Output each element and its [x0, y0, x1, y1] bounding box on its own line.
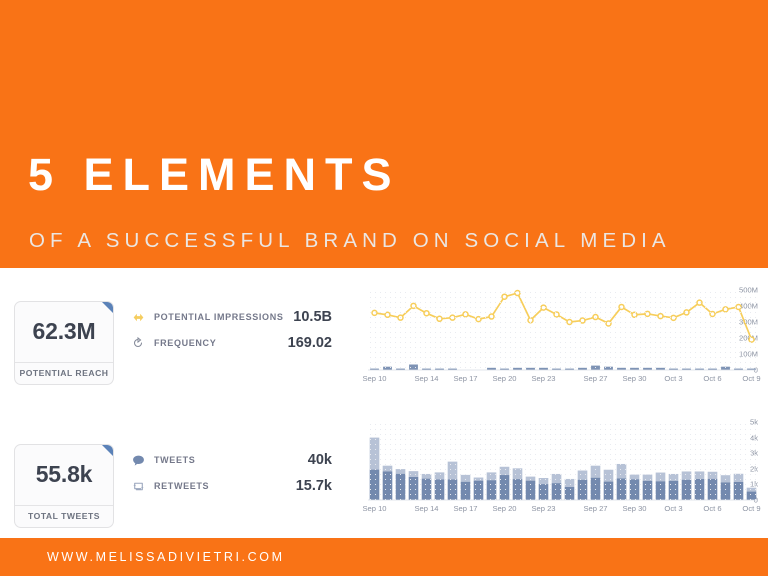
x-tick-label: Sep 27: [583, 374, 607, 383]
potential-reach-label: POTENTIAL REACH: [15, 362, 113, 378]
metric-row-potential-impressions: POTENTIAL IMPRESSIONS 10.5B: [132, 304, 332, 330]
chart-grid: [368, 290, 758, 370]
x-tick-label: Oct 9: [742, 374, 760, 383]
x-tick-label: Sep 23: [531, 504, 555, 513]
retweet-icon: [132, 476, 154, 496]
metric-row-retweets: RETWEETS 15.7k: [132, 473, 332, 499]
x-tick-label: Sep 14: [414, 504, 438, 513]
potential-reach-value: 62.3M: [15, 318, 113, 345]
x-tick-label: Sep 27: [583, 504, 607, 513]
metric-label: TWEETS: [154, 455, 332, 466]
page-title: 5 ELEMENTS: [28, 152, 401, 197]
impressions-line-chart: 0100M200M300M400M500M Sep 10Sep 14Sep 17…: [338, 288, 758, 394]
card-corner-fold-icon: [102, 302, 113, 313]
metric-row-tweets: TWEETS 40k: [132, 447, 332, 473]
x-tick-label: Sep 17: [453, 504, 477, 513]
total-tweets-card: 55.8k TOTAL TWEETS: [14, 444, 114, 528]
x-tick-label: Sep 14: [414, 374, 438, 383]
x-tick-label: Oct 3: [664, 504, 682, 513]
bar-chart-plot: [368, 422, 758, 500]
potential-reach-card: 62.3M POTENTIAL REACH: [14, 301, 114, 385]
hero-banner: 5 ELEMENTS OF A SUCCESSFUL BRAND ON SOCI…: [0, 0, 768, 268]
dashboard-body: 62.3M POTENTIAL REACH POTENTIAL IMPRESSI…: [0, 268, 768, 538]
website-url: WWW.MELISSADIVIETRI.COM: [47, 550, 285, 564]
x-tick-label: Sep 23: [531, 374, 555, 383]
card-corner-fold-icon: [102, 445, 113, 456]
x-tick-label: Sep 30: [622, 374, 646, 383]
x-tick-label: Oct 9: [742, 504, 760, 513]
total-tweets-value: 55.8k: [15, 461, 113, 488]
metric-row-frequency: FREQUENCY 169.02: [132, 330, 332, 356]
page-subtitle: OF A SUCCESSFUL BRAND ON SOCIAL MEDIA: [29, 231, 671, 252]
x-tick-label: Sep 17: [453, 374, 477, 383]
metric-value: 40k: [308, 452, 332, 468]
x-tick-label: Oct 6: [703, 374, 721, 383]
x-tick-label: Sep 10: [362, 374, 386, 383]
x-tick-label: Oct 6: [703, 504, 721, 513]
speech-bubble-icon: [132, 450, 154, 470]
chart-grid: [368, 422, 758, 500]
total-tweets-label: TOTAL TWEETS: [15, 505, 113, 521]
x-tick-label: Oct 3: [664, 374, 682, 383]
footer-bar: WWW.MELISSADIVIETRI.COM: [0, 538, 768, 576]
frequency-refresh-icon: [132, 333, 154, 353]
left-right-arrow-icon: [132, 307, 154, 327]
potential-reach-metrics: POTENTIAL IMPRESSIONS 10.5B FREQUENCY 16…: [132, 304, 332, 356]
x-tick-label: Sep 30: [622, 504, 646, 513]
metric-value: 10.5B: [293, 309, 332, 325]
metric-value: 169.02: [288, 335, 332, 351]
x-tick-label: Sep 20: [492, 374, 516, 383]
metric-value: 15.7k: [296, 478, 332, 494]
total-tweets-metrics: TWEETS 40k RETWEETS 15.7k: [132, 447, 332, 499]
infographic-page: 5 ELEMENTS OF A SUCCESSFUL BRAND ON SOCI…: [0, 0, 768, 576]
x-tick-label: Sep 10: [362, 504, 386, 513]
line-chart-plot: [368, 290, 758, 370]
x-tick-label: Sep 20: [492, 504, 516, 513]
tweets-bar-chart: 01k2k3k4k5k Sep 10Sep 14Sep 17Sep 20Sep …: [338, 420, 758, 520]
